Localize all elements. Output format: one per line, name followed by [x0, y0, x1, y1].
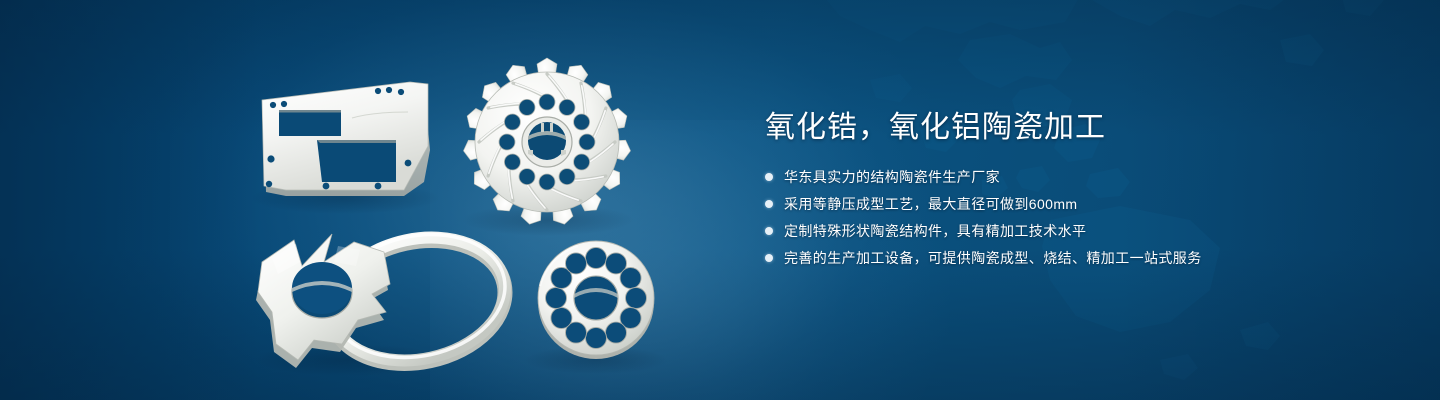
bullet-dot-icon [765, 227, 773, 235]
ceramic-processing-banner: 氧化锆，氧化铝陶瓷加工 华东具实力的结构陶瓷件生产厂家 采用等静压成型工艺，最大… [0, 0, 1440, 400]
ceramic-flat-plate [262, 82, 430, 196]
feature-text: 完善的生产加工设备，可提供陶瓷成型、烧结、精加工一站式服务 [784, 249, 1202, 267]
list-item: 华东具实力的结构陶瓷件生产厂家 [765, 168, 1385, 186]
bullet-dot-icon [765, 173, 773, 181]
list-item: 定制特殊形状陶瓷结构件，具有精加工技术水平 [765, 222, 1385, 240]
feature-list: 华东具实力的结构陶瓷件生产厂家 采用等静压成型工艺，最大直径可做到600mm 定… [765, 168, 1385, 267]
bullet-dot-icon [765, 200, 773, 208]
list-item: 采用等静压成型工艺，最大直径可做到600mm [765, 195, 1385, 213]
page-title: 氧化锆，氧化铝陶瓷加工 [765, 108, 1385, 148]
feature-text: 华东具实力的结构陶瓷件生产厂家 [784, 168, 1000, 186]
feature-text: 定制特殊形状陶瓷结构件，具有精加工技术水平 [784, 222, 1086, 240]
banner-copy: 氧化锆，氧化铝陶瓷加工 华东具实力的结构陶瓷件生产厂家 采用等静压成型工艺，最大… [765, 108, 1385, 276]
ceramic-perforated-disc [538, 241, 654, 359]
ceramic-impeller [462, 58, 631, 226]
bullet-dot-icon [765, 254, 773, 262]
list-item: 完善的生产加工设备，可提供陶瓷成型、烧结、精加工一站式服务 [765, 249, 1385, 267]
ceramic-products-group [0, 0, 720, 400]
feature-text: 采用等静压成型工艺，最大直径可做到600mm [784, 195, 1077, 213]
